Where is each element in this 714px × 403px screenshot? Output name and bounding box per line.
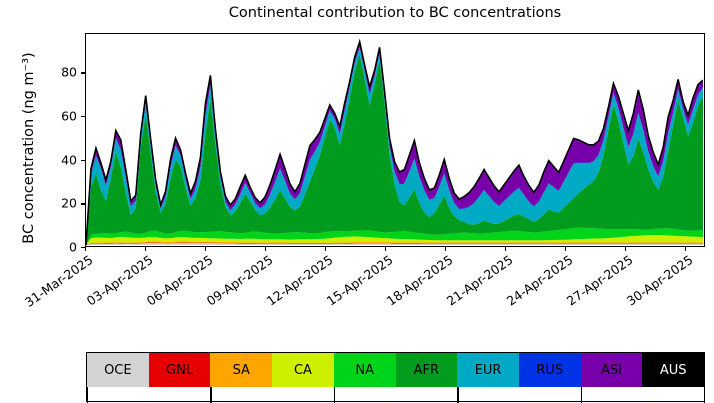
legend-item-label: OCE — [104, 363, 132, 378]
legend-item-afr[interactable]: AFR — [396, 353, 458, 387]
stacked-area-series-group — [86, 34, 703, 245]
legend-item-na[interactable]: NA — [334, 353, 396, 387]
legend-tick-mark — [457, 387, 458, 403]
y-tick-label: 60 — [37, 108, 77, 123]
x-tick-mark — [685, 247, 686, 251]
legend-item-ca[interactable]: CA — [272, 353, 334, 387]
legend-item-sa[interactable]: SA — [210, 353, 272, 387]
legend-tick-mark — [87, 387, 88, 403]
x-tick-mark — [505, 247, 506, 251]
legend-item-rus[interactable]: RUS — [519, 353, 581, 387]
x-tick-mark — [385, 247, 386, 251]
legend-item-label: RUS — [536, 363, 563, 378]
legend-item-label: NA — [355, 363, 374, 378]
legend-item-label: SA — [233, 363, 250, 378]
legend-item-label: AUS — [660, 363, 687, 378]
chart-figure: Continental contribution to BC concentra… — [0, 0, 714, 402]
x-tick-mark — [265, 247, 266, 251]
y-tick-label: 40 — [37, 152, 77, 167]
x-tick-mark — [205, 247, 206, 251]
y-tick-label: 20 — [37, 196, 77, 211]
y-tick-label: 80 — [37, 65, 77, 80]
legend-tick-marks — [87, 387, 704, 403]
legend-tick-mark — [704, 387, 705, 403]
x-tick-mark — [445, 247, 446, 251]
legend-item-label: GNL — [166, 363, 193, 378]
x-tick-mark — [625, 247, 626, 251]
legend-item-label: AFR — [414, 363, 439, 378]
plot-area — [85, 33, 705, 247]
legend-color-strip: OCEGNLSACANAAFREURRUSASIAUS — [87, 353, 704, 387]
legend-item-aus[interactable]: AUS — [642, 353, 704, 387]
legend-item-eur[interactable]: EUR — [457, 353, 519, 387]
legend-item-oce[interactable]: OCE — [87, 353, 149, 387]
legend-tick-mark — [210, 387, 211, 403]
chart-title: Continental contribution to BC concentra… — [85, 5, 705, 21]
legend-item-label: CA — [294, 363, 312, 378]
x-tick-mark — [85, 247, 86, 251]
legend-tick-mark — [334, 387, 335, 403]
x-tick-mark — [325, 247, 326, 251]
legend-item-label: EUR — [475, 363, 502, 378]
y-tick-label: 0 — [37, 240, 77, 255]
legend-item-label: ASI — [601, 363, 622, 378]
y-axis-label: BC concentration (ng m⁻³) — [21, 23, 37, 273]
legend: OCEGNLSACANAAFREURRUSASIAUS — [86, 352, 705, 402]
x-tick-mark — [565, 247, 566, 251]
legend-item-asi[interactable]: ASI — [581, 353, 643, 387]
legend-item-gnl[interactable]: GNL — [149, 353, 211, 387]
x-tick-mark — [145, 247, 146, 251]
legend-tick-mark — [581, 387, 582, 403]
